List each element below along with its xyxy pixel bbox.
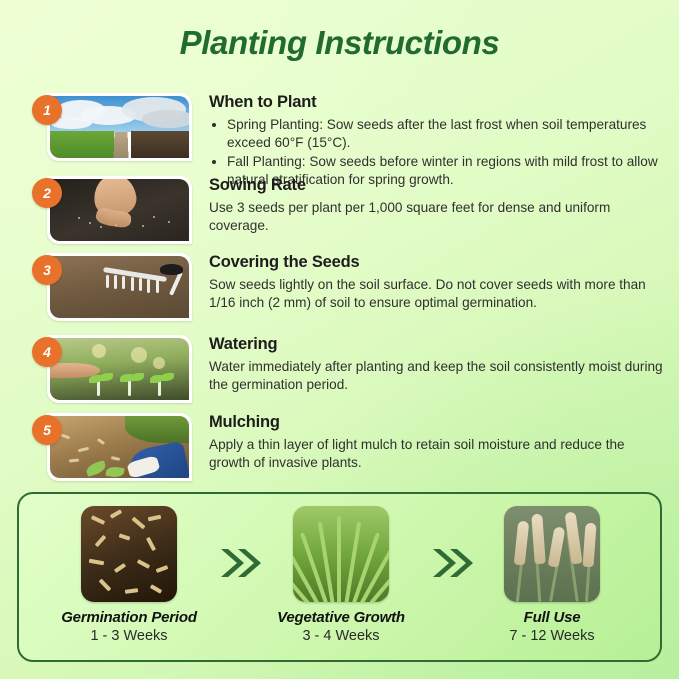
field-rows-sky-photo xyxy=(50,96,189,158)
timeline-stage-germination: Germination Period 1 - 3 Weeks xyxy=(29,506,229,644)
step-number-badge-4: 4 xyxy=(32,337,62,367)
step-thumbnail-4: 4 xyxy=(47,335,192,403)
timeline-stage-duration: 3 - 4 Weeks xyxy=(241,628,441,644)
rake-on-soil-photo xyxy=(50,256,189,318)
timeline-stage-duration: 1 - 3 Weeks xyxy=(29,628,229,644)
step-body-3: Sow seeds lightly on the soil surface. D… xyxy=(209,276,669,313)
timeline-stage-name: Germination Period xyxy=(29,609,229,626)
seeds-in-soil-photo xyxy=(81,506,177,602)
step-body-5: Apply a thin layer of light mulch to ret… xyxy=(209,436,669,473)
timeline-stage-vegetative: Vegetative Growth 3 - 4 Weeks xyxy=(241,506,441,644)
gloved-hand-mulch-photo xyxy=(50,416,189,478)
step-thumbnail-1: 1 xyxy=(47,93,192,161)
step-heading-2: Sowing Rate xyxy=(209,176,669,196)
step-text-4: Watering Water immediately after plantin… xyxy=(209,335,669,394)
step-body-2: Use 3 seeds per plant per 1,000 square f… xyxy=(209,199,669,236)
step-text-5: Mulching Apply a thin layer of light mul… xyxy=(209,413,669,472)
step-text-3: Covering the Seeds Sow seeds lightly on … xyxy=(209,253,669,312)
green-grass-clump-photo xyxy=(293,506,389,602)
step-thumbnail-5: 5 xyxy=(47,413,192,481)
step-heading-1: When to Plant xyxy=(209,93,669,113)
step-body-4: Water immediately after planting and kee… xyxy=(209,358,669,395)
timeline-stage-full-use: Full Use 7 - 12 Weeks xyxy=(452,506,652,644)
step-heading-5: Mulching xyxy=(209,413,669,433)
step-heading-3: Covering the Seeds xyxy=(209,253,669,273)
hand-sowing-seeds-photo xyxy=(50,179,189,241)
step-number-badge-1: 1 xyxy=(32,95,62,125)
step-number-badge-2: 2 xyxy=(32,178,62,208)
step-text-2: Sowing Rate Use 3 seeds per plant per 1,… xyxy=(209,176,669,235)
step-thumbnail-3: 3 xyxy=(47,253,192,321)
step-number-badge-3: 3 xyxy=(32,255,62,285)
step-heading-4: Watering xyxy=(209,335,669,355)
timeline-stage-duration: 7 - 12 Weeks xyxy=(452,628,652,644)
page-title: Planting Instructions xyxy=(0,24,679,62)
watering-seedlings-photo xyxy=(50,338,189,400)
step-thumbnail-2: 2 xyxy=(47,176,192,244)
seed-heads-mature-grass-photo xyxy=(504,506,600,602)
step-number-badge-5: 5 xyxy=(32,415,62,445)
timeline-stage-name: Vegetative Growth xyxy=(241,609,441,626)
planting-instructions-infographic: Planting Instructions 1 When to Plant xyxy=(0,0,679,679)
bullet-item: Spring Planting: Sow seeds after the las… xyxy=(227,116,669,152)
timeline-stage-name: Full Use xyxy=(452,609,652,626)
growth-timeline-panel: Germination Period 1 - 3 Weeks xyxy=(17,492,662,662)
